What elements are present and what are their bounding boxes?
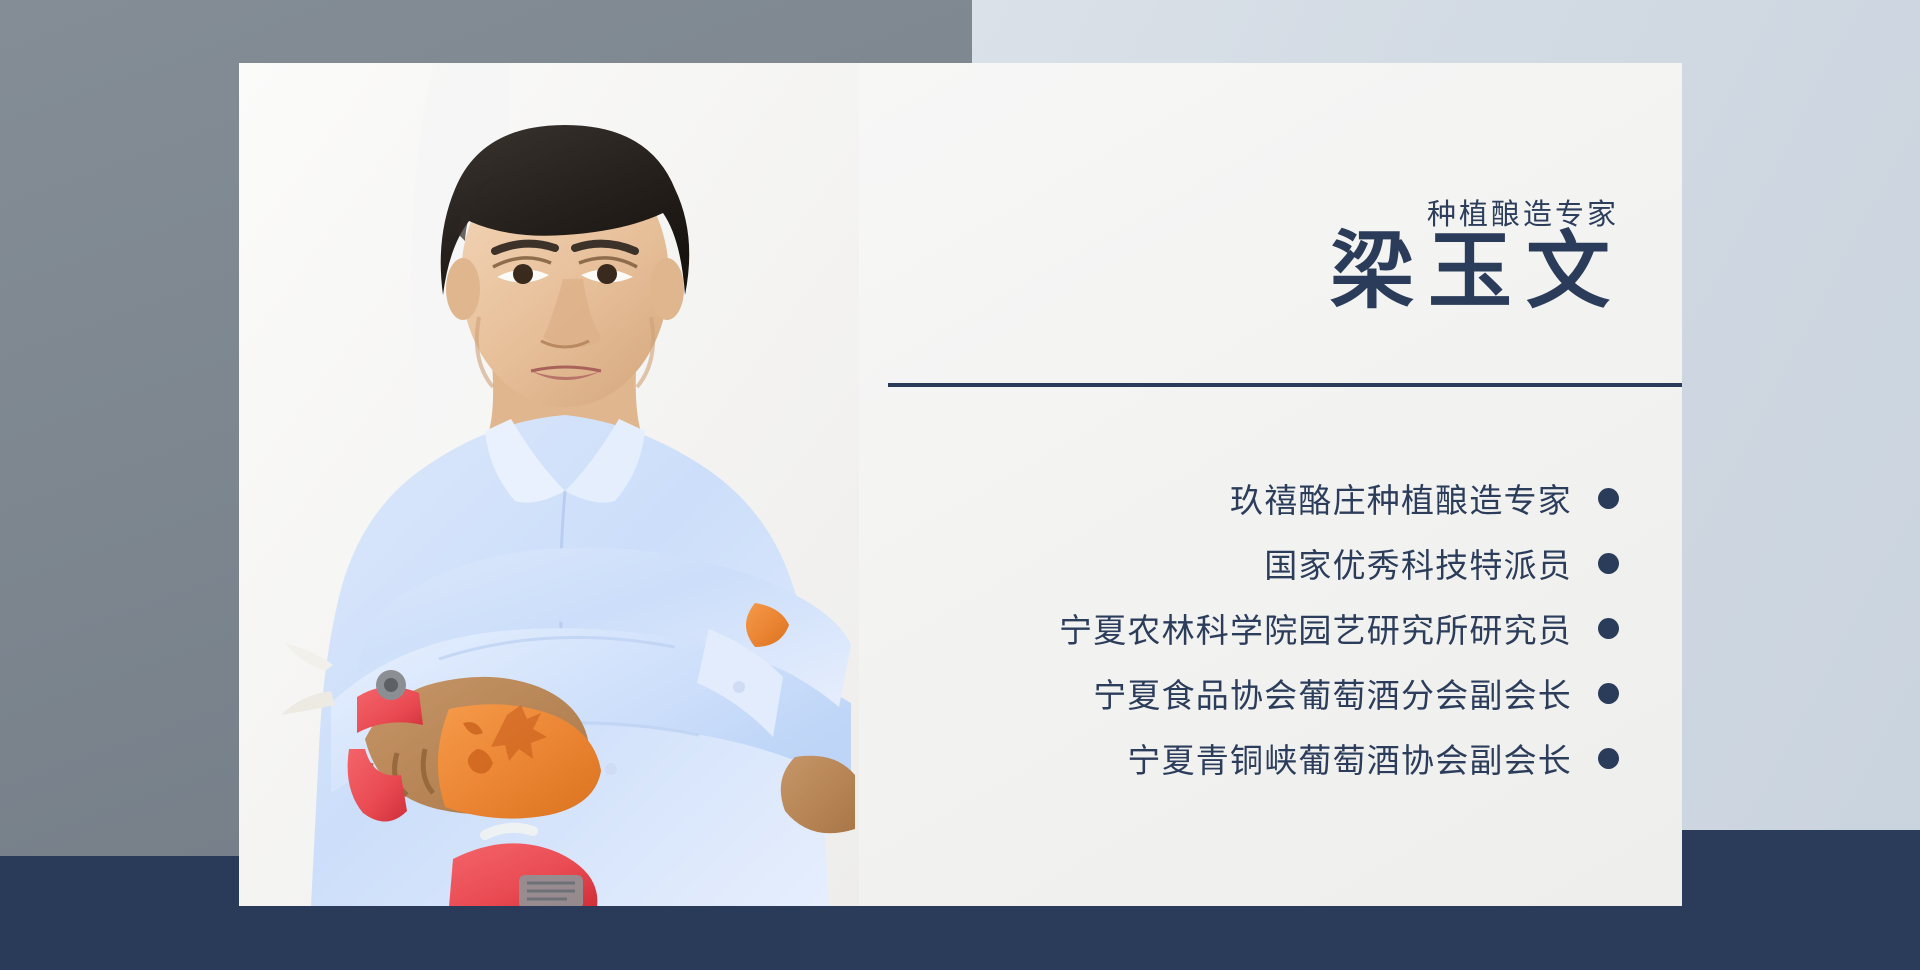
credential-label: 宁夏食品协会葡萄酒分会副会长: [1093, 669, 1572, 717]
credential-label: 国家优秀科技特派员: [1264, 539, 1572, 587]
poster-stage: 种植酿造专家 梁玉文 玖禧酪庄种植酿造专家 国家优秀科技特派员 宁夏农林科学院园…: [0, 0, 1920, 970]
credential-label: 宁夏农林科学院园艺研究所研究员: [1059, 604, 1572, 652]
credential-label: 玖禧酪庄种植酿造专家: [1230, 474, 1572, 522]
profile-text-column: 种植酿造专家 梁玉文 玖禧酪庄种植酿造专家 国家优秀科技特派员 宁夏农林科学院园…: [999, 63, 1682, 906]
bullet-dot-icon: [1598, 618, 1619, 639]
horizontal-rule: [888, 383, 1682, 387]
portrait-photo: [239, 63, 859, 906]
profile-card: 种植酿造专家 梁玉文 玖禧酪庄种植酿造专家 国家优秀科技特派员 宁夏农林科学院园…: [239, 63, 1682, 906]
list-item: 宁夏青铜峡葡萄酒协会副会长: [999, 731, 1682, 785]
credential-label: 宁夏青铜峡葡萄酒协会副会长: [1127, 734, 1572, 782]
bullet-dot-icon: [1598, 748, 1619, 769]
bullet-dot-icon: [1598, 553, 1619, 574]
list-item: 国家优秀科技特派员: [999, 536, 1682, 590]
credentials-list: 玖禧酪庄种植酿造专家 国家优秀科技特派员 宁夏农林科学院园艺研究所研究员 宁夏食…: [999, 471, 1682, 796]
page-title: 梁玉文: [1330, 225, 1624, 322]
bullet-dot-icon: [1598, 683, 1619, 704]
bullet-dot-icon: [1598, 488, 1619, 509]
list-item: 宁夏食品协会葡萄酒分会副会长: [999, 666, 1682, 720]
list-item: 宁夏农林科学院园艺研究所研究员: [999, 601, 1682, 655]
list-item: 玖禧酪庄种植酿造专家: [999, 471, 1682, 525]
